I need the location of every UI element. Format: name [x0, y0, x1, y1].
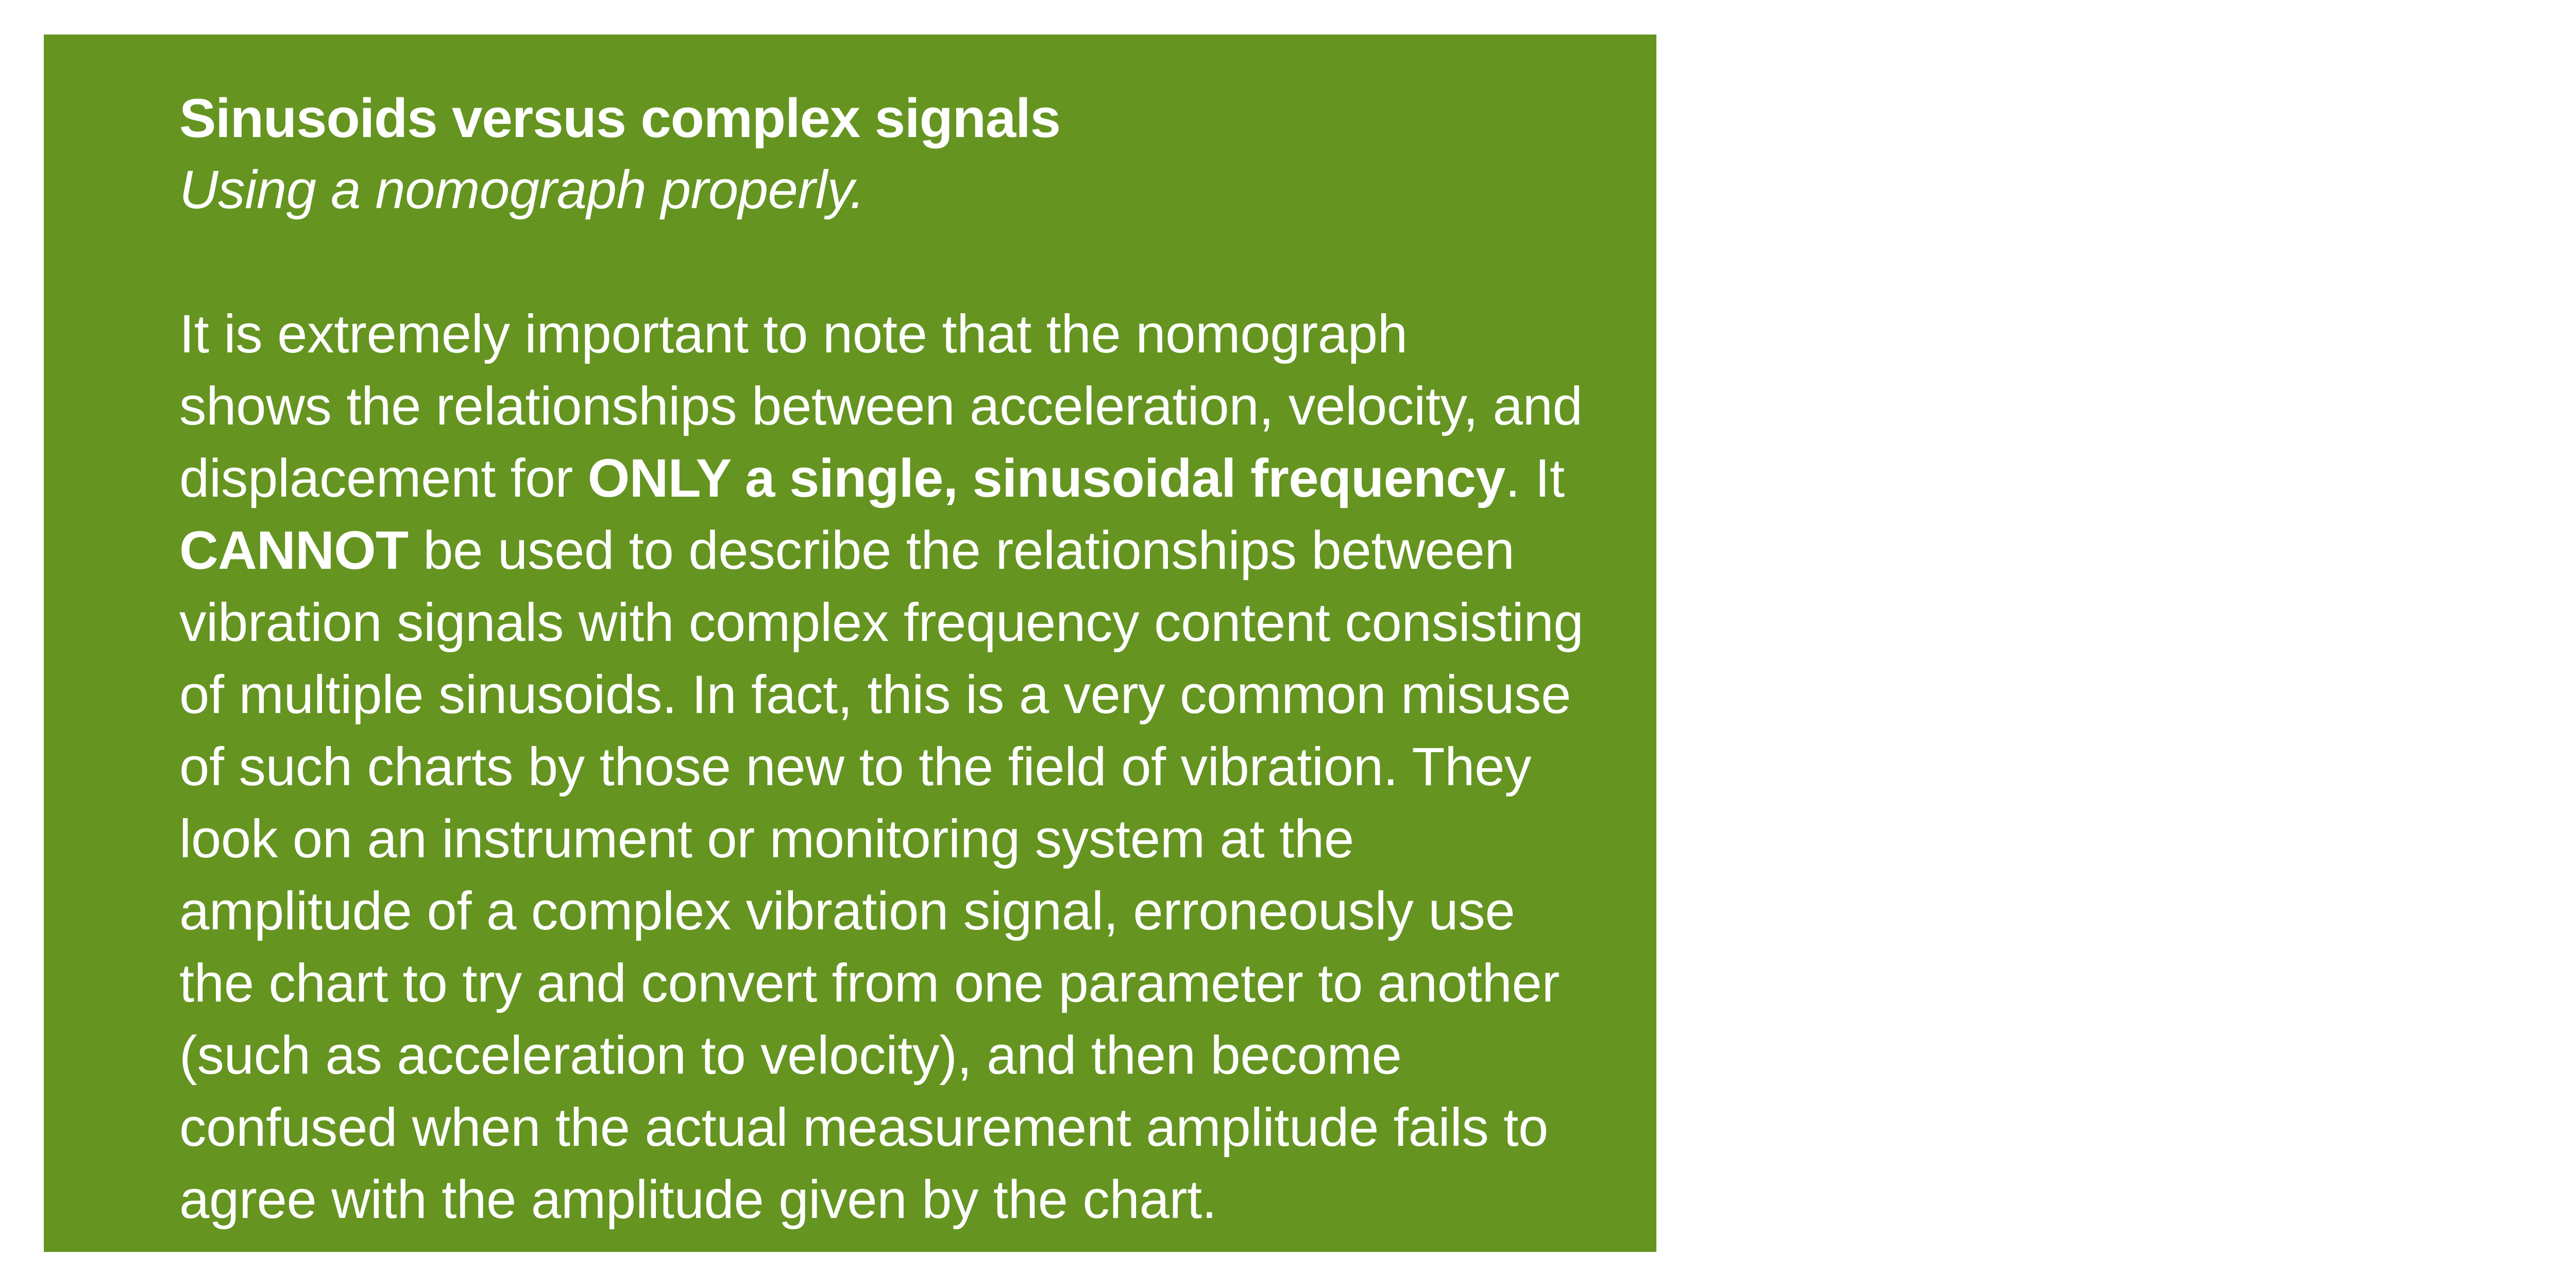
body-line: amplitude of a complex vibration signal,…: [179, 875, 1556, 947]
body-text: of such charts by those new to the field…: [179, 737, 1531, 797]
body-text: displacement for: [179, 448, 588, 509]
body-text: shows the relationships between accelera…: [179, 376, 1583, 436]
body-text: amplitude of a complex vibration signal,…: [179, 881, 1515, 941]
body-line: vibration signals with complex frequency…: [179, 587, 1556, 659]
emphasized-text: ONLY a single, sinusoidal frequency: [588, 448, 1505, 509]
page-title: Sinusoids versus complex signals: [179, 82, 1556, 154]
body-line: of multiple sinusoids. In fact, this is …: [179, 659, 1556, 731]
body-paragraph: It is extremely important to note that t…: [179, 298, 1556, 1236]
body-text: It is extremely important to note that t…: [179, 304, 1408, 364]
body-line: displacement for ONLY a single, sinusoid…: [179, 443, 1556, 515]
body-line: the chart to try and convert from one pa…: [179, 947, 1556, 1020]
sinusoids-callout-card: Sinusoids versus complex signals Using a…: [44, 35, 1656, 1252]
body-text: agree with the amplitude given by the ch…: [179, 1170, 1217, 1230]
body-text: of multiple sinusoids. In fact, this is …: [179, 665, 1571, 725]
body-text: vibration signals with complex frequency…: [179, 592, 1583, 653]
emphasized-text: CANNOT: [179, 520, 408, 581]
body-line: of such charts by those new to the field…: [179, 731, 1556, 803]
body-line: It is extremely important to note that t…: [179, 298, 1556, 370]
body-line: agree with the amplitude given by the ch…: [179, 1164, 1556, 1236]
body-line: confused when the actual measurement amp…: [179, 1092, 1556, 1164]
body-line: (such as acceleration to velocity), and …: [179, 1020, 1556, 1092]
body-line: CANNOT be used to describe the relations…: [179, 515, 1556, 587]
page-subtitle: Using a nomograph properly.: [179, 154, 1556, 226]
body-text: . It: [1505, 448, 1565, 509]
body-line: look on an instrument or monitoring syst…: [179, 803, 1556, 875]
body-text: (such as acceleration to velocity), and …: [179, 1025, 1402, 1086]
body-text: confused when the actual measurement amp…: [179, 1097, 1548, 1158]
paragraph-spacer: [179, 226, 1556, 298]
body-text: look on an instrument or monitoring syst…: [179, 809, 1354, 869]
body-text: the chart to try and convert from one pa…: [179, 953, 1560, 1013]
body-text: be used to describe the relationships be…: [408, 520, 1514, 581]
body-line: shows the relationships between accelera…: [179, 370, 1556, 443]
